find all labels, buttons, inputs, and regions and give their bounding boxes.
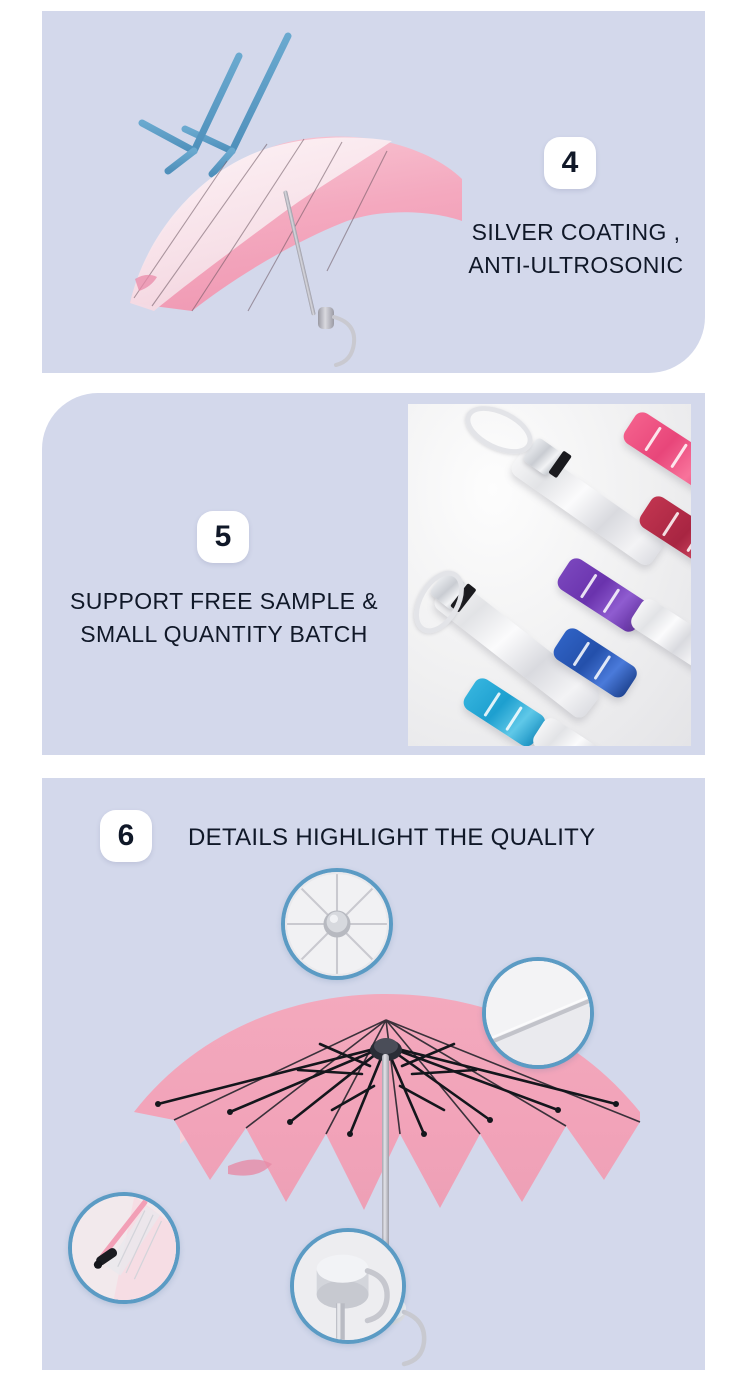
headline-free-sample: SUPPORT FREE SAMPLE & SMALL QUANTITY BAT… bbox=[50, 585, 398, 652]
callout-rib-tip bbox=[68, 1192, 180, 1304]
folded-umbrellas-photo bbox=[408, 404, 691, 746]
feature-card-silver-coating: 4 SILVER COATING , ANTI-ULTROSONIC bbox=[42, 11, 705, 373]
stripe bbox=[572, 641, 590, 666]
stripe bbox=[580, 573, 598, 598]
stripe bbox=[670, 443, 688, 468]
badge-5: 5 bbox=[197, 511, 249, 563]
stripe bbox=[645, 427, 663, 452]
headline-silver-coating: SILVER COATING , ANTI-ULTROSONIC bbox=[435, 216, 705, 283]
feature-card-details-quality: 6 DETAILS HIGHLIGHT THE QUALITY bbox=[42, 778, 705, 1370]
callout-silver-coating-seam bbox=[482, 957, 594, 1069]
coating-seam-image bbox=[486, 961, 590, 1065]
canopy-hub-image bbox=[285, 872, 389, 976]
stripe bbox=[686, 527, 691, 552]
stripe bbox=[661, 511, 679, 536]
badge-6: 6 bbox=[100, 810, 152, 862]
stripe bbox=[603, 588, 621, 613]
silver-coating-illustration bbox=[42, 11, 462, 373]
callout-handle-cap bbox=[290, 1228, 406, 1344]
rib-tip-image bbox=[72, 1196, 176, 1300]
callout-canopy-hub bbox=[281, 868, 393, 980]
product-feature-page: 4 SILVER COATING , ANTI-ULTROSONIC 5 SUP… bbox=[0, 0, 750, 1379]
stripe bbox=[593, 655, 611, 680]
stripe bbox=[505, 706, 523, 731]
headline-details-quality: DETAILS HIGHLIGHT THE QUALITY bbox=[188, 824, 595, 852]
handle-cap-image bbox=[294, 1232, 402, 1340]
stripe bbox=[483, 692, 501, 717]
badge-4: 4 bbox=[544, 137, 596, 189]
